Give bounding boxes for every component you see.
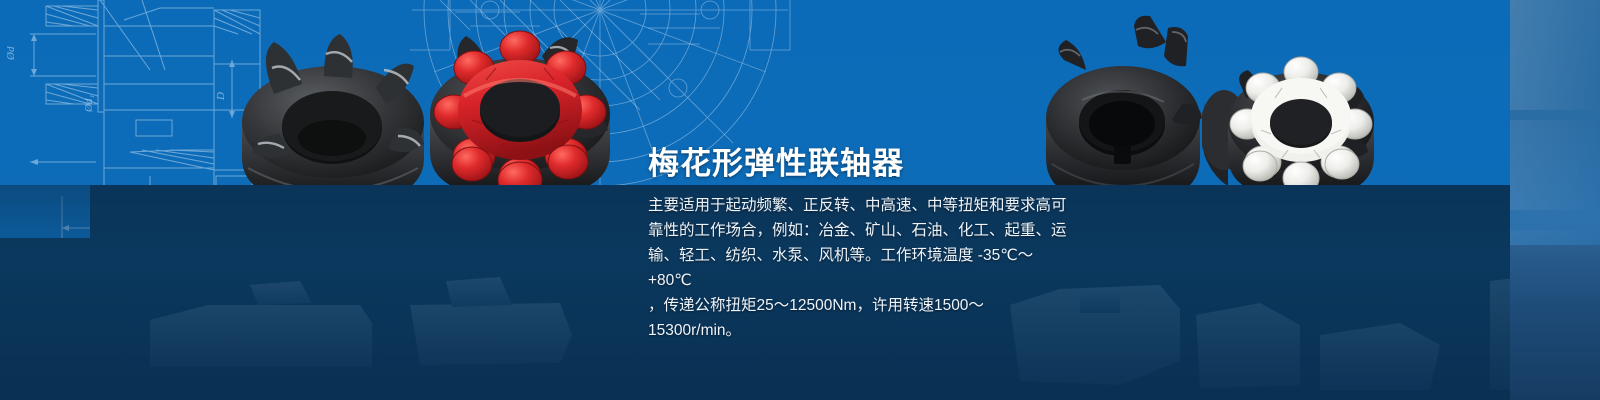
description-line-3: 输、轻工、纺织、水泵、风机等。工作环境温度 -35℃～+80℃ [648,243,1068,293]
product-black-jaw-coupling-hub [228,18,438,208]
product-red-spider-assembly [414,6,624,206]
page-title: 梅花形弹性联轴器 [648,138,904,183]
product-description: 主要适用于起动频繁、正反转、中高速、中等扭矩和要求高可 靠性的工作场合，例如：冶… [648,193,1068,343]
product-black-hub-with-bore [1026,8,1216,208]
description-line-1: 主要适用于起动频繁、正反转、中高速、中等扭矩和要求高可 [648,193,1068,218]
right-panel-dark-foot [1510,245,1600,400]
description-line-2: 靠性的工作场合，例如：冶金、矿山、石油、化工、起重、运 [648,218,1068,243]
description-line-4: ，传递公称扭矩25～12500Nm，许用转速1500～15300r/min。 [648,293,1068,343]
product-banner: Ød Ød₁ D L L₀ L [0,0,1600,400]
product-white-spider-assembly [1202,26,1387,206]
